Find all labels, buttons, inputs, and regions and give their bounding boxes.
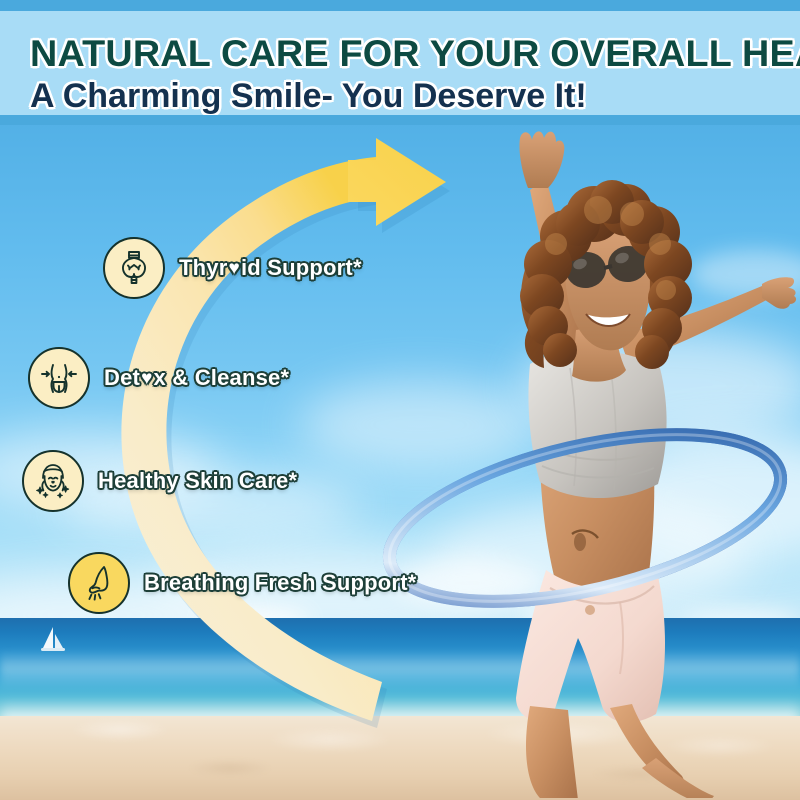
feature-label-breathing: Breathing Fresh Support* [144,570,417,596]
feature-item-detox[interactable]: Det♥x & Cleanse* [28,347,289,409]
feature-item-breathing[interactable]: Breathing Fresh Support* [68,552,417,614]
feature-label-thyroid: Thyr♥id Support* [179,255,362,281]
page-title: NATURAL CARE FOR YOUR OVERALL HEALTH [30,33,800,75]
page-subtitle: A Charming Smile- You Deserve It! [30,77,790,116]
promo-banner-image: NATURAL CARE FOR YOUR OVERALL HEALTH A C… [0,0,800,800]
curved-progress-arrow [0,120,800,740]
woman-face-sparkle-icon [22,450,84,512]
label-prefix: Thyr [179,255,227,280]
feature-label-detox: Det♥x & Cleanse* [104,365,289,391]
banner-bottom-rule [0,115,800,125]
headline-banner: NATURAL CARE FOR YOUR OVERALL HEALTH A C… [0,11,800,115]
thyroid-gland-icon [103,237,165,299]
label-suffix: x & Cleanse* [154,365,290,390]
slim-waist-icon [28,347,90,409]
heart-icon: ♥ [227,258,240,279]
label-text: Healthy Skin Care* [98,468,297,493]
feature-item-skin[interactable]: Healthy Skin Care* [22,450,297,512]
banner-top-rule [0,0,800,11]
label-suffix: id Support* [241,255,362,280]
feature-label-skin: Healthy Skin Care* [98,468,297,494]
heart-icon: ♥ [140,368,153,389]
feature-item-thyroid[interactable]: Thyr♥id Support* [103,237,362,299]
label-prefix: Det [104,365,140,390]
label-text: Breathing Fresh Support* [144,570,417,595]
nose-breathing-icon [68,552,130,614]
